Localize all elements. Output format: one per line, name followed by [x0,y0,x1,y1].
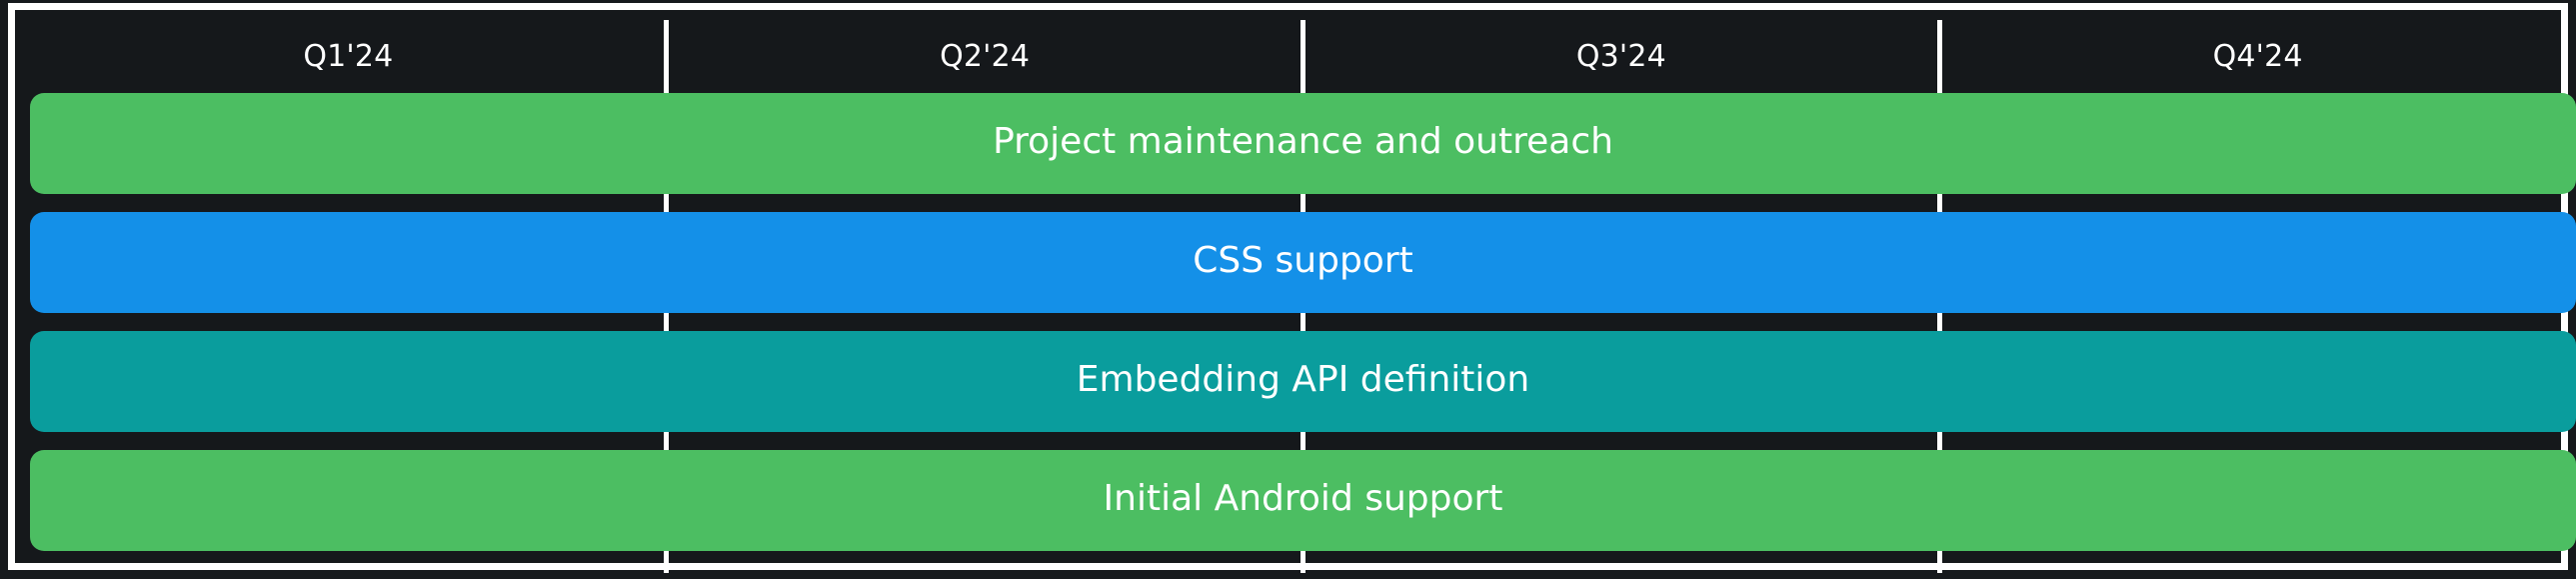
task-bar-label: Initial Android support [1104,481,1503,520]
task-bar-label: Embedding API definition [1077,362,1529,401]
task-bar[interactable]: Embedding API definition [30,331,2576,432]
task-bars: Project maintenance and outreachCSS supp… [30,20,2576,573]
task-bar[interactable]: Project maintenance and outreach [30,93,2576,194]
task-bar-label: Project maintenance and outreach [993,124,1613,163]
task-bar-label: CSS support [1193,243,1413,282]
chart-frame: Q1'24Q2'24Q3'24Q4'24 Project maintenance… [8,3,2568,570]
task-bar[interactable]: Initial Android support [30,450,2576,551]
gantt-chart: Q1'24Q2'24Q3'24Q4'24 Project maintenance… [0,0,2576,579]
chart-plot-area: Q1'24Q2'24Q3'24Q4'24 Project maintenance… [30,20,2576,573]
task-bar[interactable]: CSS support [30,212,2576,313]
